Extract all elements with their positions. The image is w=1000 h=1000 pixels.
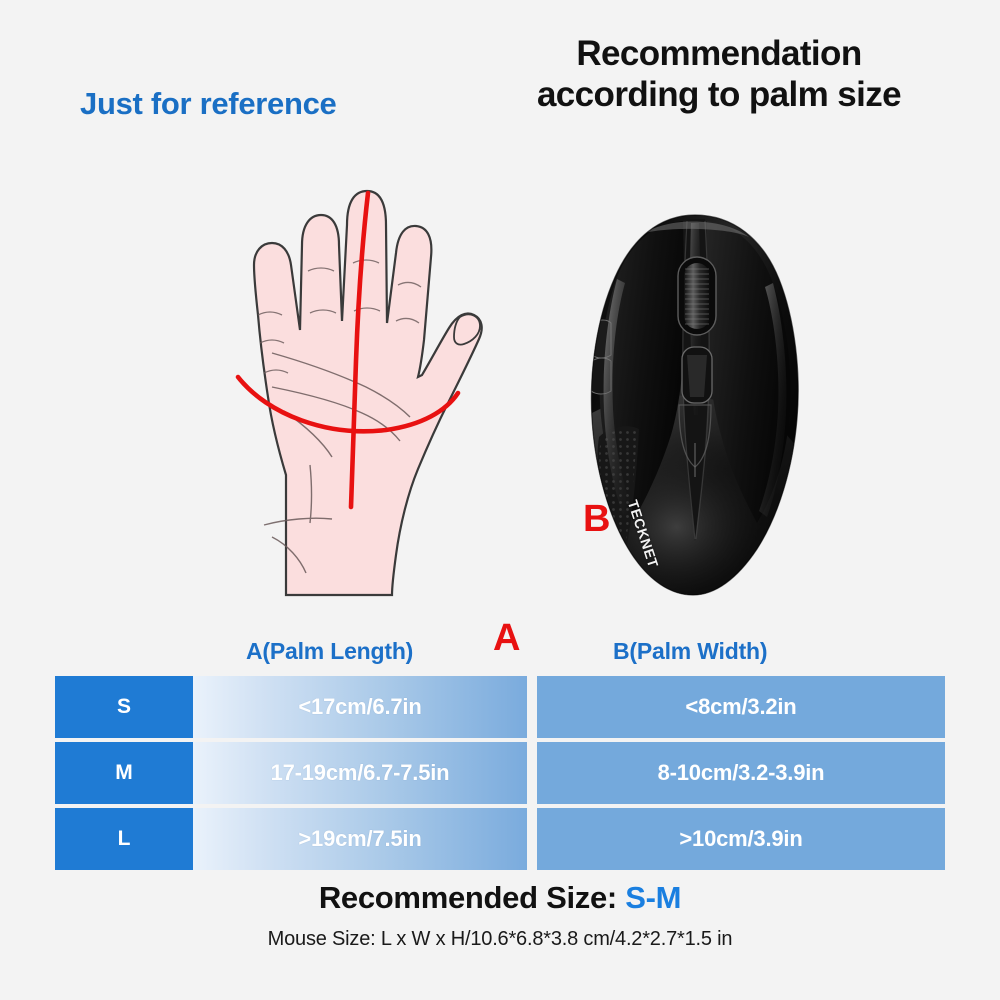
size-label-m: M <box>55 742 193 804</box>
size-table: S <17cm/6.7in <8cm/3.2in M 17-19cm/6.7-7… <box>0 676 1000 874</box>
table-row: M 17-19cm/6.7-7.5in 8-10cm/3.2-3.9in <box>0 742 1000 804</box>
palm-width-value-s: <8cm/3.2in <box>537 676 945 738</box>
recommended-size-line: Recommended Size: S-M <box>0 880 1000 916</box>
palm-length-value-l: >19cm/7.5in <box>193 808 527 870</box>
mouse-product-image <box>575 205 815 605</box>
table-row: L >19cm/7.5in >10cm/3.9in <box>0 808 1000 870</box>
column-header-palm-width: B(Palm Width) <box>613 638 767 665</box>
palm-width-value-m: 8-10cm/3.2-3.9in <box>537 742 945 804</box>
reference-note: Just for reference <box>80 86 336 122</box>
page-title-line2: according to palm size <box>455 75 983 116</box>
recommended-size-value: S-M <box>625 880 681 915</box>
recommended-size-label: Recommended Size: <box>319 880 625 915</box>
mouse-dimensions: Mouse Size: L x W x H/10.6*6.8*3.8 cm/4.… <box>0 928 1000 951</box>
dpi-button-face <box>687 355 707 397</box>
palm-length-value-m: 17-19cm/6.7-7.5in <box>193 742 527 804</box>
page-title-line1: Recommendation <box>455 34 983 75</box>
infographic-page: Just for reference Recommendation accord… <box>0 0 1000 1000</box>
page-title: Recommendation according to palm size <box>455 34 983 115</box>
palm-length-value-s: <17cm/6.7in <box>193 676 527 738</box>
hand-illustration-svg <box>160 125 520 605</box>
size-label-l: L <box>55 808 193 870</box>
palm-width-value-l: >10cm/3.9in <box>537 808 945 870</box>
hand-outline <box>254 191 482 595</box>
size-label-s: S <box>55 676 193 738</box>
hand-diagram: B A <box>160 125 520 605</box>
marker-a-label: A <box>493 619 520 657</box>
table-row: S <17cm/6.7in <8cm/3.2in <box>0 676 1000 738</box>
column-header-palm-length: A(Palm Length) <box>246 638 413 665</box>
mouse-illustration-svg <box>575 205 815 605</box>
